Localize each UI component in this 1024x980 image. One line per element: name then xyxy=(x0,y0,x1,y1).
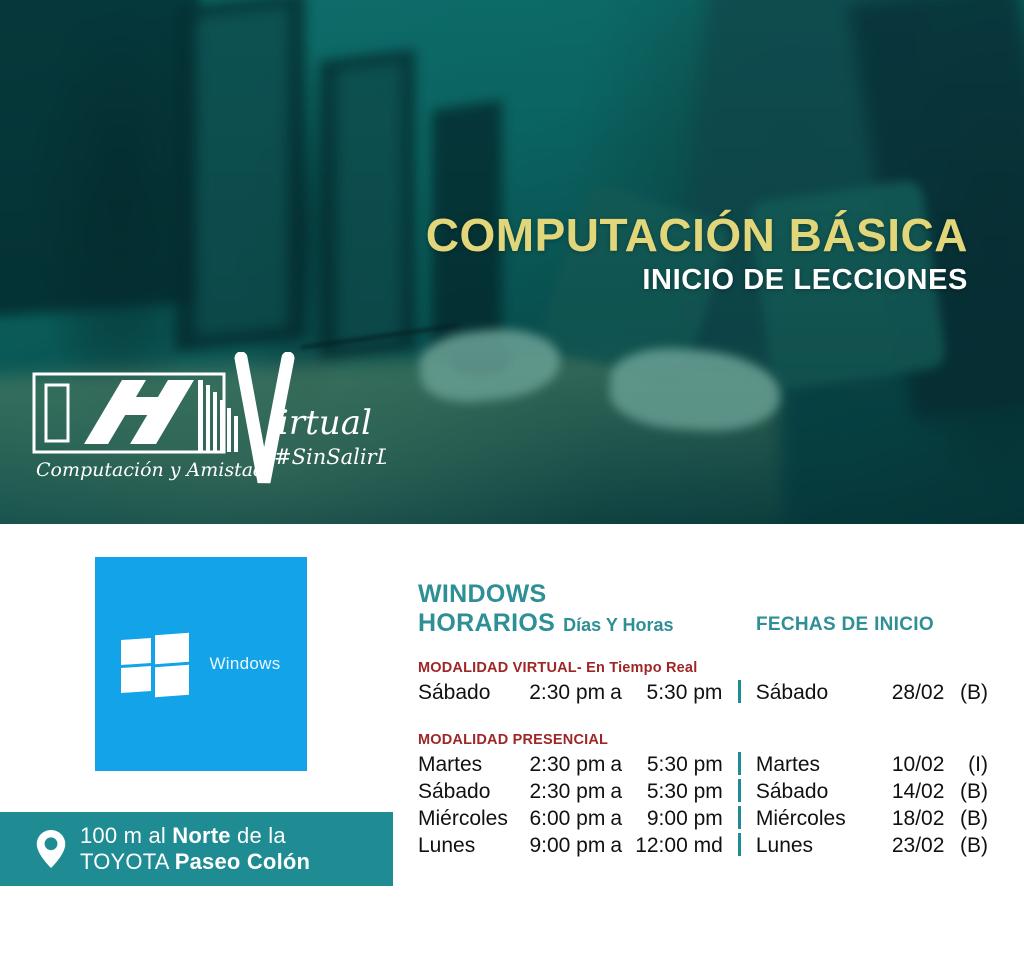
cell-level-tag: (B) xyxy=(944,805,988,832)
cell-separator: a xyxy=(605,778,627,805)
page-title: COMPUTACIÓN BÁSICA xyxy=(426,212,968,259)
address-bar: 100 m al Norte de la TOYOTA Paseo Colón xyxy=(0,812,393,886)
logo-hashtag: #SinSalirDeCasa xyxy=(274,445,386,469)
cell-separator: a xyxy=(605,751,627,778)
cell-start-day: Miércoles xyxy=(756,805,873,832)
windows-tile-label: Windows xyxy=(209,654,280,674)
modality-virtual-block: MODALIDAD VIRTUAL- En Tiempo Real Sábado… xyxy=(418,660,988,706)
cell-day: Sábado xyxy=(418,679,521,706)
cell-time-from: 2:30 pm xyxy=(521,679,605,706)
schedule-header-horarios-sub: Días Y Horas xyxy=(563,615,673,636)
cell-divider xyxy=(723,805,756,832)
cell-time-to: 5:30 pm xyxy=(627,751,723,778)
cell-level-tag: (B) xyxy=(944,832,988,859)
windows-logo-icon xyxy=(121,634,189,694)
cell-time-from: 6:00 pm xyxy=(522,805,606,832)
cell-start-date: 18/02 xyxy=(873,805,944,832)
brand-logo: Computación y Amistad irtual #SinSalirDe… xyxy=(26,352,386,497)
table-row: Sábado 2:30 pm a 5:30 pm Sábado 14/02 (B… xyxy=(418,778,988,805)
address-line-2: TOYOTA Paseo Colón xyxy=(80,849,310,875)
cell-divider xyxy=(723,778,756,805)
page-subtitle: INICIO DE LECCIONES xyxy=(426,265,968,296)
table-row: Sábado 2:30 pm a 5:30 pm Sábado 28/02 (B… xyxy=(418,679,988,706)
cell-time-to: 5:30 pm xyxy=(627,778,723,805)
cell-day: Martes xyxy=(418,751,522,778)
address-text: 100 m al Norte de la TOYOTA Paseo Colón xyxy=(80,823,310,875)
cell-day: Miércoles xyxy=(418,805,522,832)
cell-day: Sábado xyxy=(418,778,522,805)
virtual-rows: Sábado 2:30 pm a 5:30 pm Sábado 28/02 (B… xyxy=(418,679,988,706)
cell-time-from: 2:30 pm xyxy=(522,751,606,778)
cell-separator: a xyxy=(605,832,627,859)
schedule-panel: WINDOWS HORARIOS Días Y Horas FECHAS DE … xyxy=(418,580,988,859)
hero-title-block: COMPUTACIÓN BÁSICA INICIO DE LECCIONES xyxy=(426,212,968,296)
cell-divider xyxy=(722,679,755,706)
cell-start-day: Sábado xyxy=(756,679,873,706)
table-row: Miércoles 6:00 pm a 9:00 pm Miércoles 18… xyxy=(418,805,988,832)
cell-time-from: 2:30 pm xyxy=(522,778,606,805)
cell-start-date: 14/02 xyxy=(873,778,944,805)
cell-time-to: 9:00 pm xyxy=(627,805,723,832)
cell-divider xyxy=(723,832,756,859)
cell-start-day: Sábado xyxy=(756,778,873,805)
cell-divider xyxy=(723,751,756,778)
cell-separator: a xyxy=(605,679,627,706)
cell-level-tag: (I) xyxy=(944,751,988,778)
modality-presencial-block: MODALIDAD PRESENCIAL Martes 2:30 pm a 5:… xyxy=(418,732,988,859)
cell-start-date: 28/02 xyxy=(873,679,945,706)
course-name: WINDOWS xyxy=(418,580,988,609)
cell-level-tag: (B) xyxy=(944,679,988,706)
windows-product-tile: Windows xyxy=(95,557,307,771)
modality-presencial-label: MODALIDAD PRESENCIAL xyxy=(418,732,988,748)
cell-time-to: 5:30 pm xyxy=(627,679,723,706)
cell-start-day: Martes xyxy=(756,751,873,778)
address-line-1: 100 m al Norte de la xyxy=(80,823,310,849)
cell-separator: a xyxy=(605,805,627,832)
modality-virtual-label: MODALIDAD VIRTUAL- En Tiempo Real xyxy=(418,660,988,676)
table-row: Lunes 9:00 pm a 12:00 md Lunes 23/02 (B) xyxy=(418,832,988,859)
virtual-schedule-table: Sábado 2:30 pm a 5:30 pm Sábado 28/02 (B… xyxy=(418,679,988,706)
table-row: Martes 2:30 pm a 5:30 pm Martes 10/02 (I… xyxy=(418,751,988,778)
presencial-rows: Martes 2:30 pm a 5:30 pm Martes 10/02 (I… xyxy=(418,751,988,859)
presencial-schedule-table: Martes 2:30 pm a 5:30 pm Martes 10/02 (I… xyxy=(418,751,988,859)
schedule-header-fechas: FECHAS DE INICIO xyxy=(756,614,934,636)
hero-banner: COMPUTACIÓN BÁSICA INICIO DE LECCIONES C… xyxy=(0,0,1024,524)
cell-level-tag: (B) xyxy=(944,778,988,805)
cell-start-day: Lunes xyxy=(756,832,873,859)
cell-time-from: 9:00 pm xyxy=(522,832,606,859)
schedule-header-horarios: HORARIOS xyxy=(418,609,555,638)
logo-tagline: Computación y Amistad xyxy=(36,459,265,481)
logo-virtual-word: irtual xyxy=(278,403,372,443)
location-pin-icon xyxy=(36,830,66,868)
cell-start-date: 23/02 xyxy=(873,832,944,859)
cell-day: Lunes xyxy=(418,832,522,859)
cell-start-date: 10/02 xyxy=(873,751,944,778)
cell-time-to: 12:00 md xyxy=(627,832,723,859)
